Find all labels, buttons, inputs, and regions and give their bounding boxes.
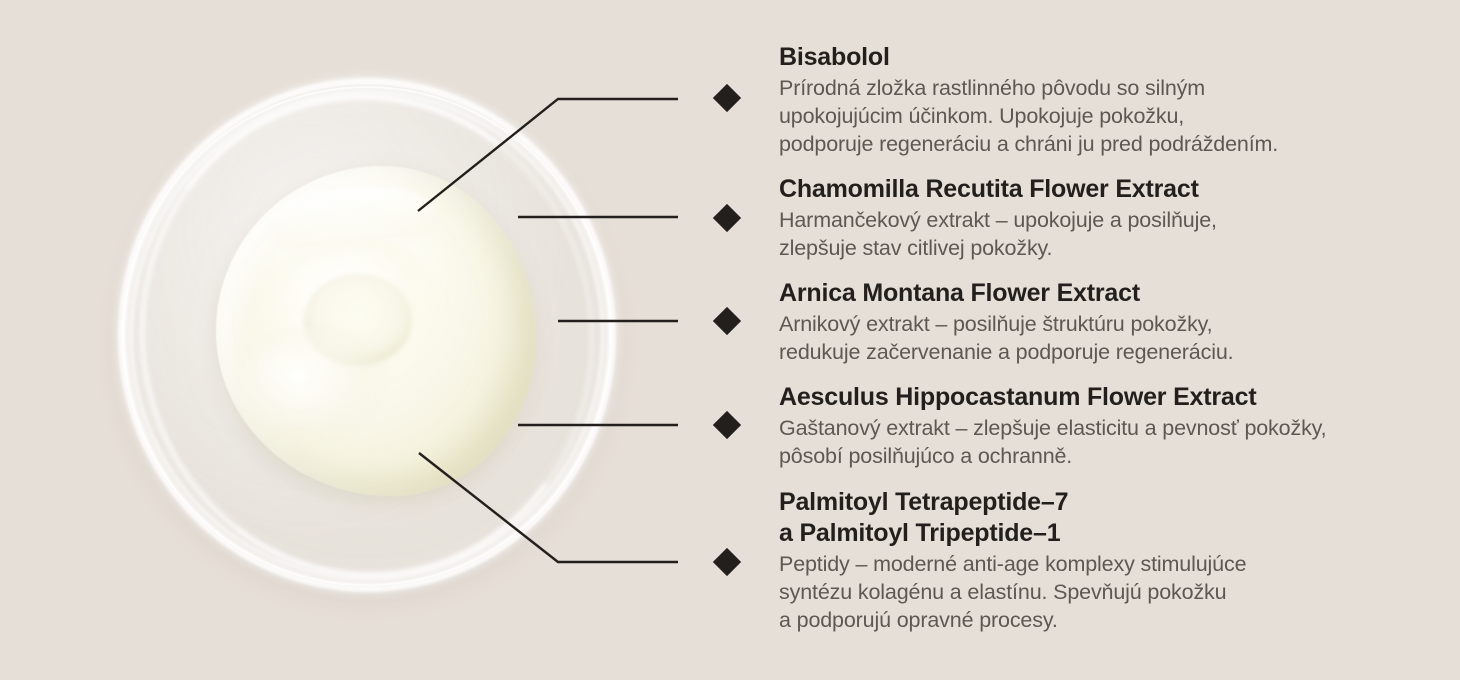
ingredient-list: Bisabolol Prírodná zložka rastlinného pô… (700, 0, 1460, 680)
ingredient-text-block: Aesculus Hippocastanum Flower Extract Ga… (779, 382, 1449, 470)
ingredient-title: Chamomilla Recutita Flower Extract (779, 174, 1449, 205)
diamond-bullet-icon (713, 84, 741, 112)
ingredient-description: Prírodná zložka rastlinného pôvodu so si… (779, 74, 1449, 158)
ingredient-title: Palmitoyl Tetrapeptide–7 a Palmitoyl Tri… (779, 487, 1449, 549)
diamond-bullet-icon (713, 411, 741, 439)
ingredient-title: Arnica Montana Flower Extract (779, 278, 1449, 309)
ingredient-description: Arnikový extrakt – posilňuje štruktúru p… (779, 310, 1449, 366)
ingredient-title: Aesculus Hippocastanum Flower Extract (779, 382, 1449, 413)
ingredient-text-block: Chamomilla Recutita Flower Extract Harma… (779, 174, 1449, 262)
ingredient-description: Harmančekový extrakt – upokojuje a posil… (779, 206, 1449, 262)
product-cream-bowl-image (118, 78, 618, 598)
ingredient-title: Bisabolol (779, 42, 1449, 73)
ingredient-description: Gaštanový extrakt – zlepšuje elasticitu … (779, 414, 1449, 470)
ingredient-description: Peptidy – moderné anti-age komplexy stim… (779, 550, 1449, 634)
diamond-bullet-icon (713, 307, 741, 335)
ingredient-text-block: Arnica Montana Flower Extract Arnikový e… (779, 278, 1449, 366)
diamond-bullet-icon (713, 204, 741, 232)
diamond-bullet-icon (713, 548, 741, 576)
ingredient-infographic: Bisabolol Prírodná zložka rastlinného pô… (0, 0, 1460, 680)
ingredient-text-block: Palmitoyl Tetrapeptide–7 a Palmitoyl Tri… (779, 487, 1449, 634)
ingredient-text-block: Bisabolol Prírodná zložka rastlinného pô… (779, 42, 1449, 158)
